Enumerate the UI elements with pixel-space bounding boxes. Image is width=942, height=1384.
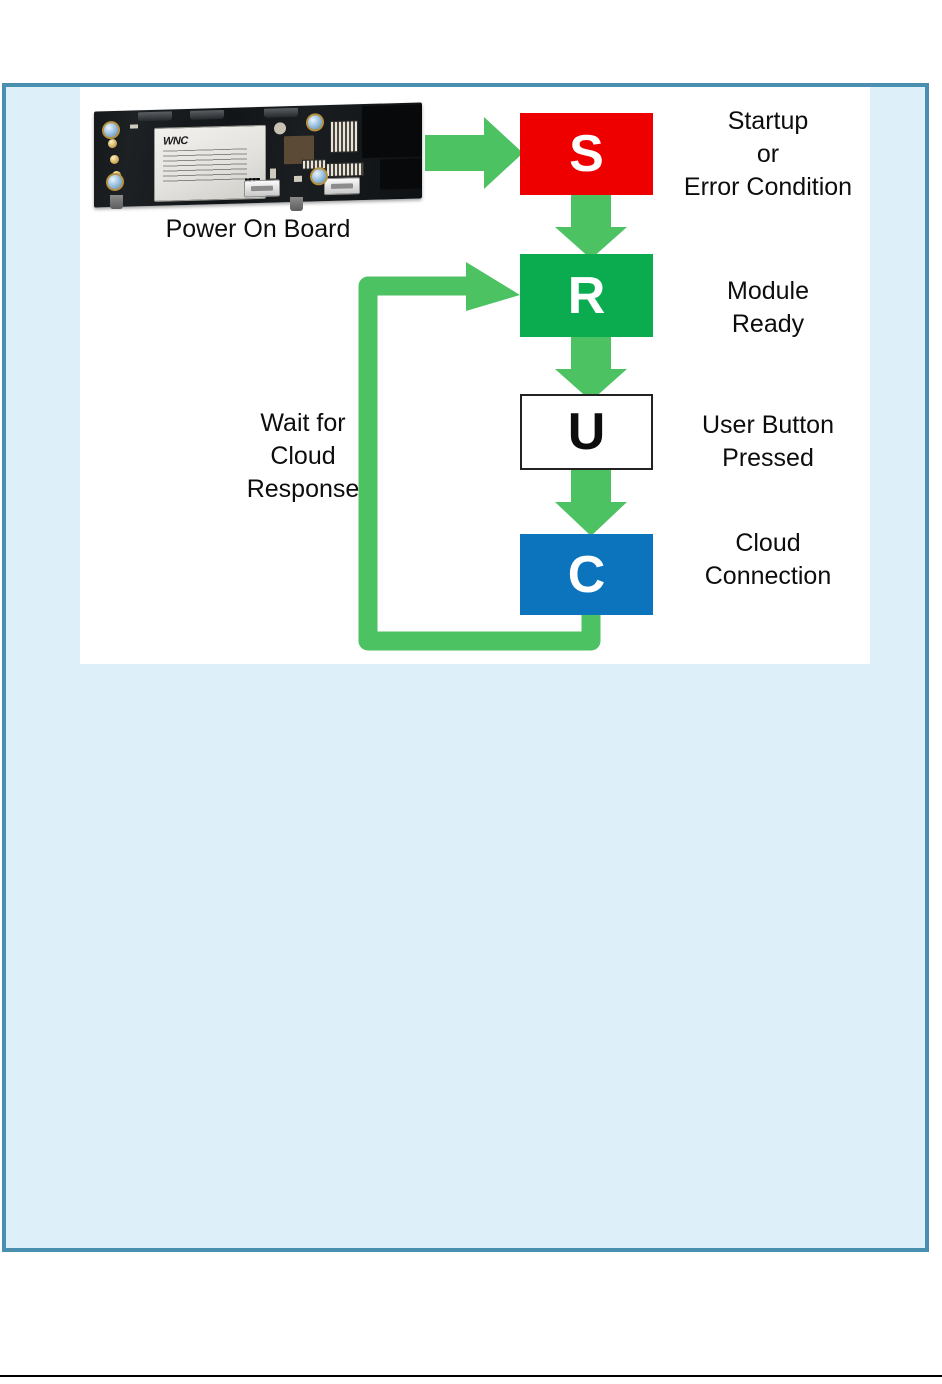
loop-label-line: Response [208,473,398,506]
desc-line: Connection [666,560,870,593]
state-machine-figure: WNC [80,87,870,664]
arrow-u-to-c [555,468,627,536]
page-bottom-rule [0,1375,942,1377]
desc-line: Ready [666,308,870,341]
loop-label-line: Wait for [208,407,398,440]
desc-line: Pressed [666,442,870,475]
arrow-s-to-r [555,193,627,259]
desc-line: Error Condition [666,171,870,204]
arrow-r-to-u [555,335,627,401]
state-description-u: User Button Pressed [666,409,870,475]
desc-line: or [666,138,870,171]
state-letter-s: S [569,128,604,180]
desc-line: User Button [666,409,870,442]
slide-panel: WNC [2,83,929,1252]
loop-label: Wait for Cloud Response [208,407,398,506]
state-box-r[interactable]: R [520,254,653,337]
loop-label-line: Cloud [208,440,398,473]
desc-line: Startup [666,105,870,138]
state-letter-c: C [568,549,606,601]
state-description-c: Cloud Connection [666,527,870,593]
state-letter-r: R [568,270,606,322]
state-box-c[interactable]: C [520,534,653,615]
state-box-s[interactable]: S [520,113,653,195]
state-letter-u: U [568,406,606,458]
state-box-u[interactable]: U [520,394,653,470]
state-description-s: Startup or Error Condition [666,105,870,204]
arrow-board-to-s [425,117,523,189]
arrowhead-loop-to-r [466,262,520,311]
desc-line: Cloud [666,527,870,560]
state-description-r: Module Ready [666,275,870,341]
desc-line: Module [666,275,870,308]
